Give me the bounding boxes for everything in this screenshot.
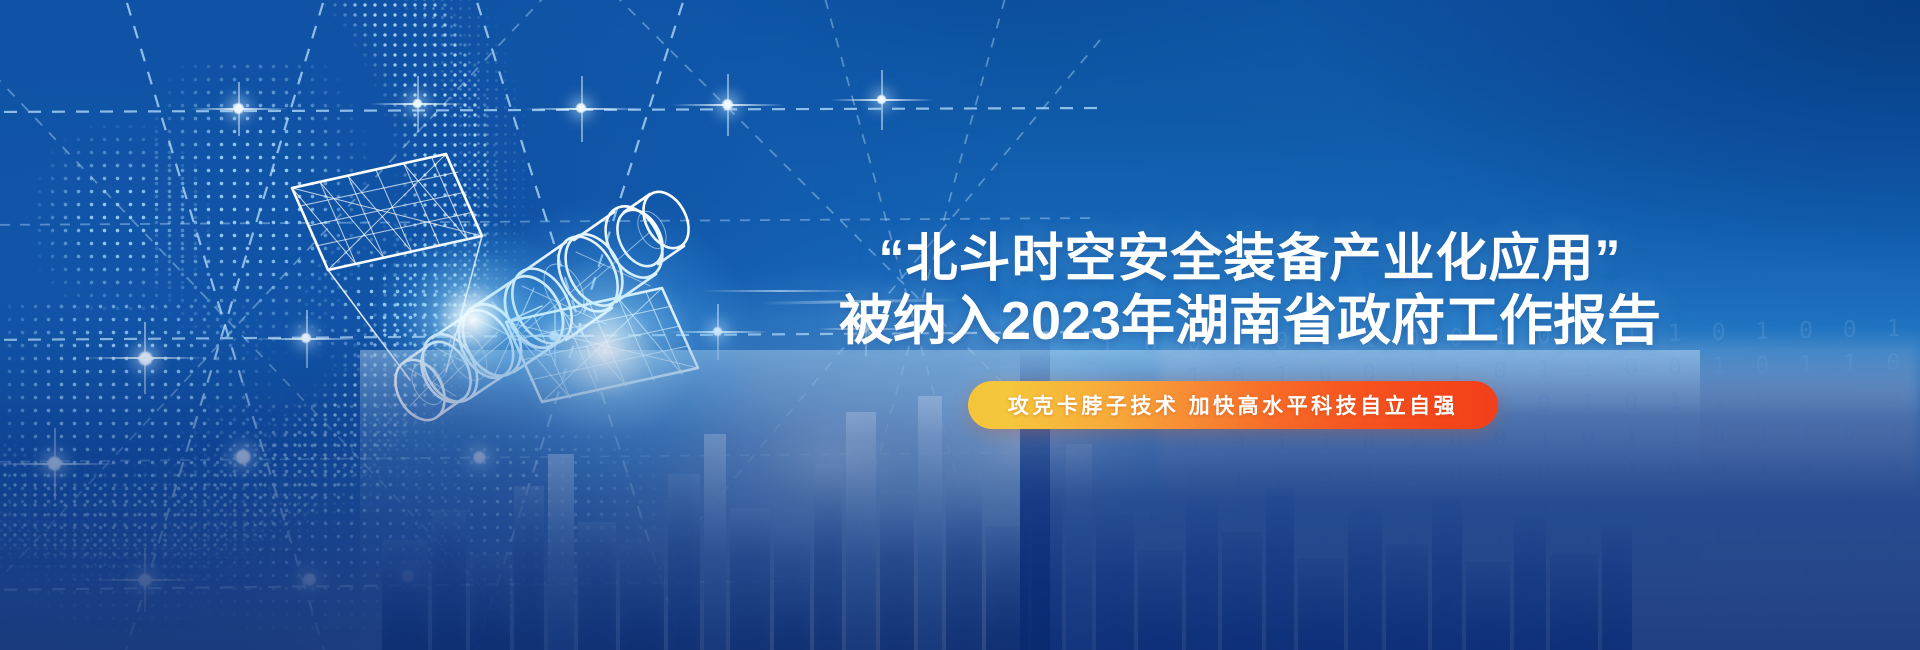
headline-line-1: “北斗时空安全装备产业化应用” bbox=[810, 228, 1690, 290]
network-node bbox=[876, 94, 887, 105]
headline-block: “北斗时空安全装备产业化应用” 被纳入2023年湖南省政府工作报告 bbox=[810, 228, 1690, 352]
network-node bbox=[412, 98, 423, 109]
slogan-badge[interactable]: 攻克卡脖子技术 加快高水平科技自立自强 bbox=[968, 381, 1498, 429]
headline-line-2: 被纳入2023年湖南省政府工作报告 bbox=[810, 290, 1690, 352]
hero-banner: 1 0 0 1 0 1 1 0 0 1 0 0 1 1 0 1 0 0 1 0 … bbox=[0, 0, 1920, 650]
network-node bbox=[721, 98, 734, 111]
network-node bbox=[232, 102, 245, 115]
slogan-badge-label: 攻克卡脖子技术 加快高水平科技自立自强 bbox=[1008, 390, 1458, 420]
left-bottom-dark-overlay bbox=[0, 320, 1050, 650]
